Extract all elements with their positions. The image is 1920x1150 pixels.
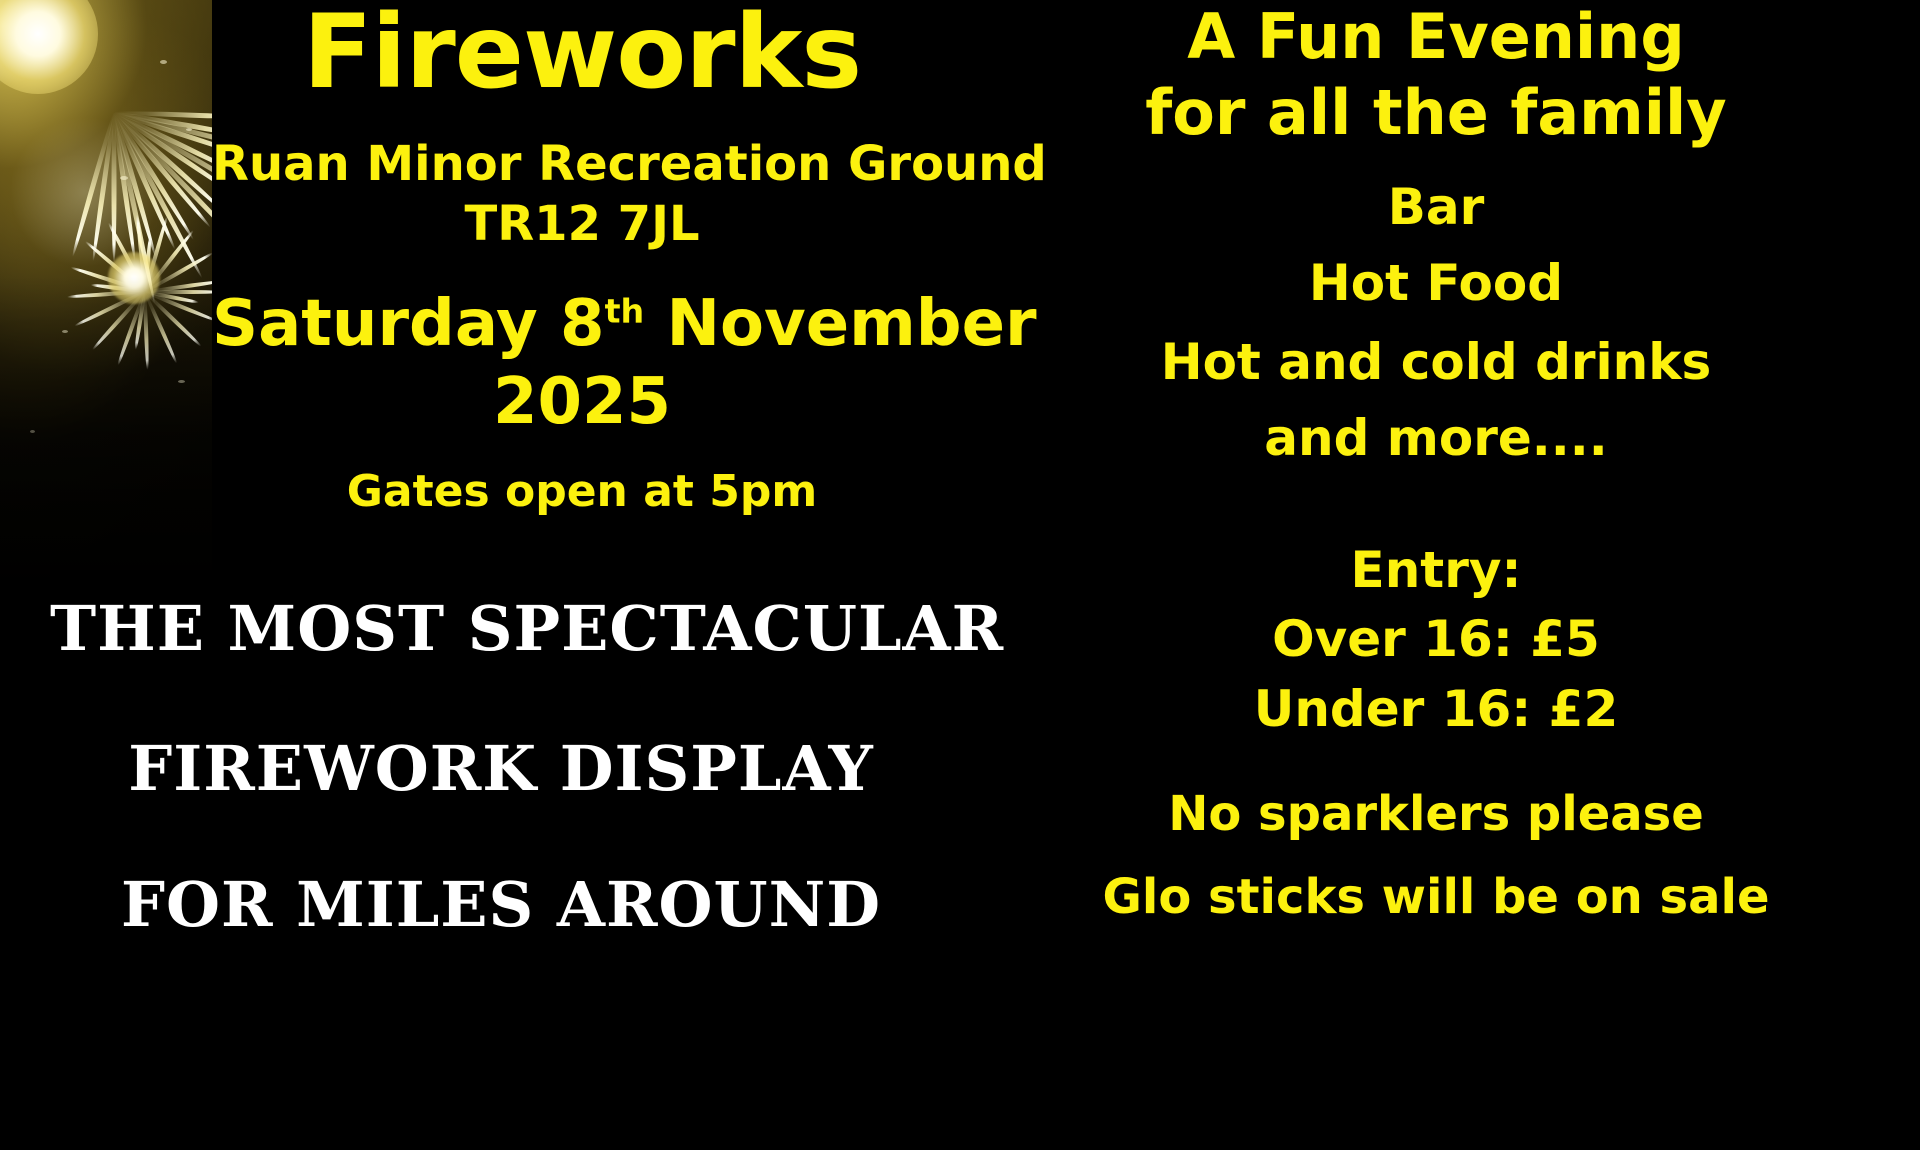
attractions-headline-line-2: for all the family: [952, 82, 1920, 144]
banner-line-2: FIREWORK DISPLAY: [50, 738, 952, 800]
amenity-hot-food: Hot Food: [952, 258, 1920, 308]
amenity-drinks: Hot and cold drinks: [952, 337, 1920, 387]
entry-price-under-16: Under 16: £2: [952, 684, 1920, 734]
entry-price-over-16: Over 16: £5: [952, 614, 1920, 664]
amenity-bar: Bar: [952, 182, 1920, 232]
event-year: 2025: [212, 370, 952, 434]
attractions-column: A Fun Evening for all the family Bar Hot…: [952, 0, 1920, 1150]
note-no-sparklers: No sparklers please: [952, 790, 1920, 838]
venue-name: Ruan Minor Recreation Ground: [212, 140, 952, 188]
note-glo-sticks: Glo sticks will be on sale: [952, 873, 1920, 921]
amenity-and-more: and more....: [952, 413, 1920, 463]
venue-postcode: TR12 7JL: [212, 200, 952, 248]
event-date-ordinal: th: [605, 292, 645, 331]
fireworks-poster: Fireworks Ruan Minor Recreation Ground T…: [0, 0, 1920, 1150]
spectacular-banner: THE MOST SPECTACULAR FIREWORK DISPLAY FO…: [50, 570, 952, 1150]
page-title: Fireworks: [212, 2, 952, 104]
event-date-line-1: Saturday 8th November: [212, 292, 952, 356]
entry-heading: Entry:: [952, 545, 1920, 595]
banner-line-1: THE MOST SPECTACULAR: [50, 598, 952, 660]
gates-open-time: Gates open at 5pm: [212, 470, 952, 514]
banner-line-3: FOR MILES AROUND: [50, 874, 952, 936]
event-date-prefix: Saturday 8: [212, 287, 605, 361]
attractions-headline-line-1: A Fun Evening: [952, 6, 1920, 68]
